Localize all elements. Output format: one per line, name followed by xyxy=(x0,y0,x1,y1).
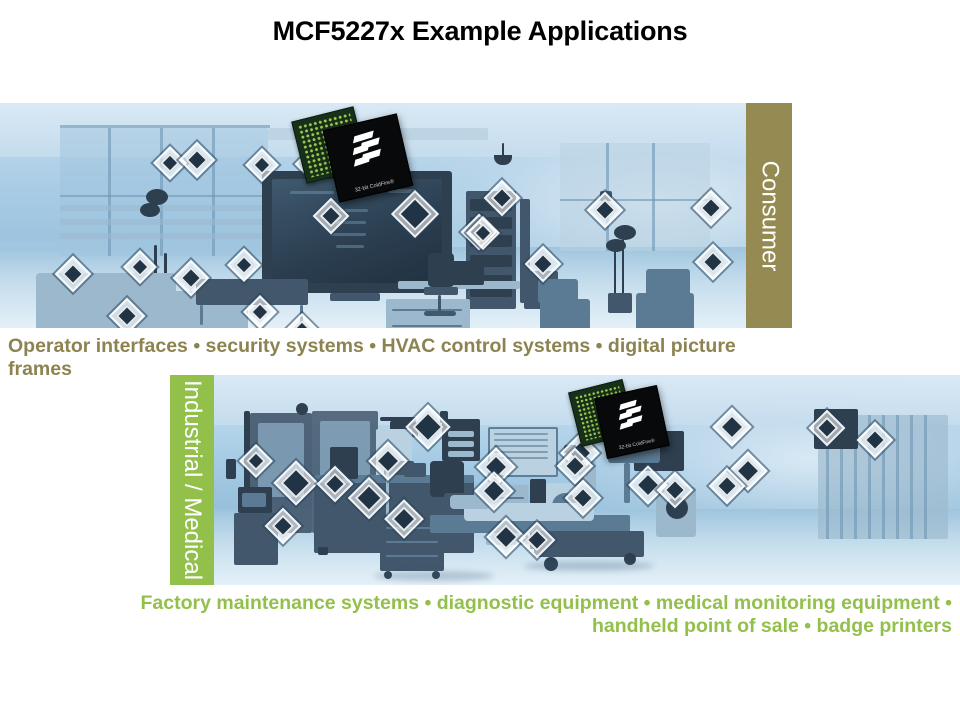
board-line xyxy=(494,433,548,435)
industrial-medical-photo: 32-bit ColdFire® xyxy=(214,375,960,585)
task-chair-back xyxy=(430,461,464,497)
furniture-shadow xyxy=(374,571,494,581)
shelf-item xyxy=(448,431,474,437)
tv-menu-line xyxy=(290,191,334,194)
consumer-photo-panel: 32-bit ColdFire® xyxy=(0,103,746,328)
office-chair-seat xyxy=(424,287,458,295)
cart-drawer-line xyxy=(386,555,438,557)
category-bar-industrial-medical: Industrial / Medical xyxy=(170,375,214,585)
counter-base xyxy=(318,547,328,555)
cart-drawer-line xyxy=(386,541,438,543)
category-label-consumer: Consumer xyxy=(755,160,783,271)
board-line xyxy=(494,445,548,447)
blind-slat xyxy=(924,415,927,539)
window-blind-slat xyxy=(60,219,268,225)
lounge-chair xyxy=(540,299,590,328)
board-line xyxy=(494,439,548,441)
lounge-chair xyxy=(636,293,694,328)
window-transom xyxy=(560,199,710,201)
window-mullion xyxy=(652,143,655,251)
plant-foliage xyxy=(614,225,636,240)
lounge-chair-back xyxy=(538,279,578,303)
plant-stem xyxy=(622,239,624,295)
plant-pot xyxy=(608,293,632,313)
page-title: MCF5227x Example Applications xyxy=(0,16,960,47)
wall-soffit xyxy=(268,128,488,140)
blind-slat xyxy=(910,415,913,539)
furniture-shadow xyxy=(524,561,654,571)
door-control-panel xyxy=(226,459,236,479)
printer xyxy=(404,463,426,477)
plant-foliage xyxy=(140,203,160,217)
office-chair-base xyxy=(424,311,456,316)
lounge-chair-back xyxy=(646,269,690,297)
shelf-item xyxy=(448,451,474,457)
plant-stem xyxy=(614,251,616,295)
window-blind-slat xyxy=(60,233,268,239)
window-blind-slat xyxy=(60,205,268,211)
tv-menu-line xyxy=(336,245,364,248)
monitor-screen xyxy=(242,493,266,507)
consumer-photo: 32-bit ColdFire® xyxy=(0,103,746,328)
industrial-medical-photo-panel: 32-bit ColdFire® xyxy=(214,375,960,585)
blind-slat xyxy=(896,415,899,539)
ceiling-camera xyxy=(296,403,308,415)
tv-menu-line xyxy=(330,233,366,236)
category-bar-consumer: Consumer xyxy=(746,103,792,328)
table-leg xyxy=(200,305,203,325)
office-chair-back xyxy=(428,253,454,287)
tv-stand xyxy=(330,293,380,301)
shelf-item xyxy=(448,441,474,447)
drawer-line xyxy=(392,325,462,327)
slide-canvas: MCF5227x Example Applications xyxy=(0,0,960,720)
industrial-medical-caption: Factory maintenance systems • diagnostic… xyxy=(132,592,952,638)
category-label-industrial-medical: Industrial / Medical xyxy=(178,380,206,580)
